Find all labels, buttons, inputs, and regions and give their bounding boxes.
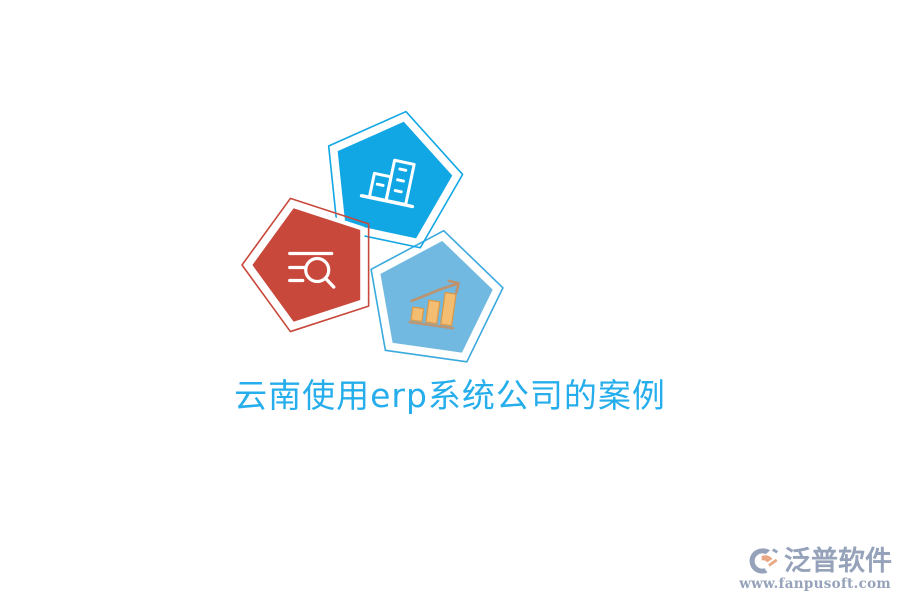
watermark-url-text: www.fanpusoft.com: [739, 576, 892, 592]
hero-graphic: [240, 100, 520, 375]
watermark-brand-text: 泛普软件: [784, 547, 892, 577]
page-title: 云南使用erp系统公司的案例: [0, 374, 900, 418]
pentagon-chart[interactable]: [360, 221, 509, 365]
page-canvas: 云南使用erp系统公司的案例 泛普软件 www.fanpusoft.com: [0, 0, 900, 600]
watermark: 泛普软件 www.fanpusoft.com: [739, 546, 892, 592]
watermark-brand-row: 泛普软件: [747, 546, 892, 577]
fanpu-logo-icon: [747, 546, 780, 577]
